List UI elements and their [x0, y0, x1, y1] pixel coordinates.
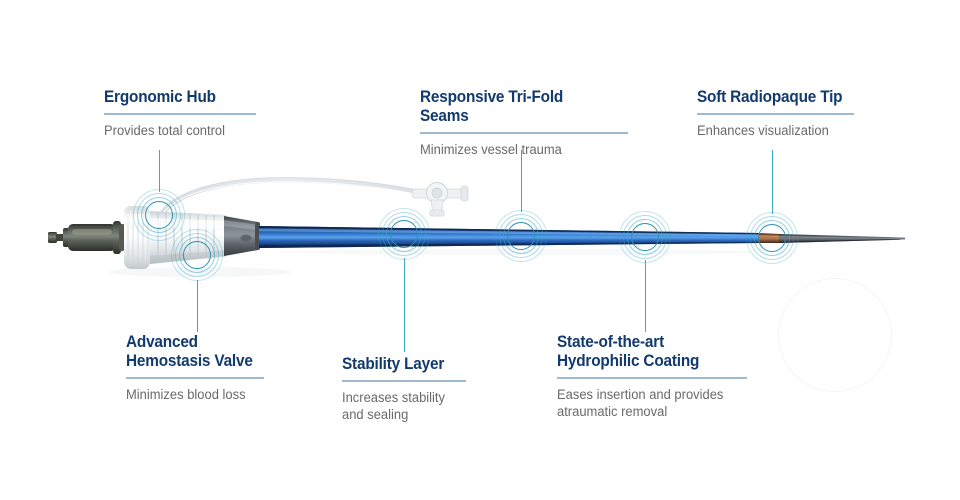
callout-title: State-of-the-art Hydrophilic Coating	[557, 333, 734, 371]
leader-line-hemostasis-valve	[197, 280, 199, 332]
marker-ring	[390, 220, 418, 248]
callout-ergonomic-hub: Ergonomic Hub Provides total control	[104, 88, 256, 139]
leader-line-ergonomic-hub	[159, 150, 161, 192]
callout-rule	[557, 377, 747, 379]
marker-tri-fold-seams[interactable]	[495, 210, 547, 262]
callout-title: Soft Radiopaque Tip	[697, 88, 843, 107]
callout-responsive-tri-fold-seams: Responsive Tri-Fold Seams Minimizes vess…	[420, 88, 628, 158]
callout-title: Ergonomic Hub	[104, 88, 245, 107]
callout-rule	[104, 113, 256, 115]
callout-subtitle: Minimizes blood loss	[126, 386, 258, 403]
callout-stability-layer: Stability Layer Increases stability and …	[342, 355, 466, 423]
marker-ring	[183, 241, 211, 269]
callout-subtitle: Enhances visualization	[697, 122, 848, 139]
callout-subtitle: Increases stability and sealing	[342, 389, 461, 423]
callout-hydrophilic-coating: State-of-the-art Hydrophilic Coating Eas…	[557, 333, 747, 420]
callout-title: Advanced Hemostasis Valve	[126, 333, 254, 371]
marker-hydrophilic-coating[interactable]	[619, 211, 671, 263]
callout-subtitle: Eases insertion and provides atraumatic …	[557, 386, 739, 420]
device-illustration	[0, 0, 960, 500]
strain-relief	[224, 216, 260, 256]
marker-radiopaque-tip[interactable]	[746, 212, 798, 264]
leader-line-stability-layer	[404, 258, 406, 352]
leader-line-radiopaque-tip	[772, 150, 774, 214]
callout-soft-radiopaque-tip: Soft Radiopaque Tip Enhances visualizati…	[697, 88, 854, 139]
callout-rule	[420, 132, 628, 134]
leader-line-tri-fold-seams	[521, 150, 523, 212]
marker-ring	[507, 222, 535, 250]
callout-subtitle: Provides total control	[104, 122, 250, 139]
leader-line-hydrophilic-coating	[645, 260, 647, 332]
marker-stability-layer[interactable]	[378, 208, 430, 260]
marker-ring	[631, 223, 659, 251]
background-watermark	[778, 278, 892, 392]
callout-title: Stability Layer	[342, 355, 457, 374]
marker-hemostasis-valve[interactable]	[171, 229, 223, 281]
callout-title: Responsive Tri-Fold Seams	[420, 88, 613, 126]
callout-rule	[697, 113, 854, 115]
callout-advanced-hemostasis-valve: Advanced Hemostasis Valve Minimizes bloo…	[126, 333, 264, 403]
dilator-hub	[48, 221, 125, 254]
callout-subtitle: Minimizes vessel trauma	[420, 141, 620, 158]
infographic-canvas: Ergonomic Hub Provides total control Res…	[0, 0, 960, 500]
callout-rule	[342, 380, 466, 382]
marker-ring	[758, 224, 786, 252]
marker-ring	[145, 201, 173, 229]
callout-rule	[126, 377, 264, 379]
